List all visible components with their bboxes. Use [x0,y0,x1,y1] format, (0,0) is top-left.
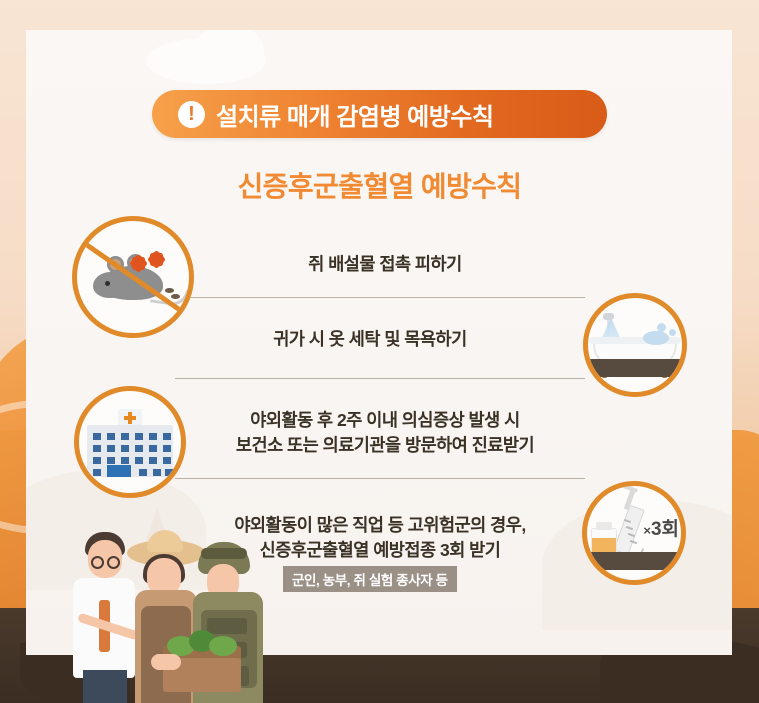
prevention-row-1: 쥐 배설물 접촉 피하기 [195,240,575,290]
bathtub-illustration [589,313,681,377]
hospital-window [139,469,147,476]
mouse-eye [105,281,110,286]
hospital-window [149,433,157,440]
vegetable-leaf-3 [209,636,237,656]
row-divider-2 [175,378,585,379]
hospital-window [135,457,143,464]
syringe-icon: ×3회 [582,481,686,585]
bubble-1 [643,331,669,345]
banner-title: 설치류 매개 감염병 예방수칙 [216,97,493,132]
prevention-row-1-text: 쥐 배설물 접촉 피하기 [195,252,575,277]
hospital-illustration [87,407,173,477]
prevention-row-3: 야외활동 후 2주 이내 의심증상 발생 시 보건소 또는 의료기관을 방문하여… [185,398,585,468]
prevention-row-3-text: 야외활동 후 2주 이내 의심증상 발생 시 보건소 또는 의료기관을 방문하여… [185,408,585,459]
hospital-window [165,469,173,476]
dose-count-label: ×3회 [643,514,679,541]
virus-particle-1 [131,256,146,271]
hospital-window [149,445,157,452]
hospital-window [93,457,101,464]
hospital-window [107,433,115,440]
syringe-illustration: ×3회 [587,496,681,570]
virus-particle-2 [149,252,164,267]
glasses-icon-left [91,556,104,569]
prevention-row-2-text: 귀가 시 옷 세탁 및 목욕하기 [175,327,565,352]
hospital-window [149,457,157,464]
infographic-canvas: ! 설치류 매개 감염병 예방수칙 신증후군출혈열 예방수칙 쥐 배설물 접촉 … [0,0,759,703]
hospital-window [93,445,101,452]
prevention-row-2: 귀가 시 옷 세탁 및 목욕하기 [175,315,565,365]
hospital-icon [74,386,186,498]
hospital-window [107,457,115,464]
hospital-window [93,433,101,440]
hospital-window [135,445,143,452]
hospital-window [93,469,101,476]
hospital-window [163,457,171,464]
hospital-window [121,457,129,464]
header-banner: ! 설치류 매개 감염병 예방수칙 [152,90,607,138]
page-subtitle: 신증후군출혈열 예방수칙 [0,165,759,205]
row-divider-1 [175,297,585,298]
shower-head-icon [603,313,614,320]
icon-ground-strip [589,359,681,377]
bathtub-icon [583,293,687,397]
hospital-window [163,433,171,440]
syringe-barrel [613,505,644,556]
farmer-arm [151,654,181,670]
hospital-window [121,433,129,440]
high-risk-people-illustration [55,518,270,703]
bubble-3 [669,329,676,336]
exclamation-glyph: ! [188,104,195,124]
bubble-2 [657,323,666,332]
hospital-window [135,433,143,440]
soldier-goggles-icon [201,548,247,559]
hospital-window [107,445,115,452]
rodent-dropping-1 [165,288,174,293]
high-risk-groups-badge: 군인, 농부, 쥐 실험 종사자 등 [283,566,457,592]
exclamation-icon: ! [178,101,205,128]
medical-cross-bar [124,416,136,420]
icon-ground-strip [587,552,681,570]
researcher-pants [83,670,127,703]
hospital-entrance [107,465,131,477]
hospital-window [153,469,161,476]
soldier-pouch-1 [207,618,247,634]
glasses-icon-right [107,556,120,569]
prevention-row-3-line-2: 보건소 또는 의료기관을 방문하여 진료받기 [185,433,585,458]
multiplier-symbol: × [643,523,651,538]
prevention-row-3-line-1: 야외활동 후 2주 이내 의심증상 발생 시 [185,408,585,433]
vaccine-vial-cap [596,522,612,530]
dose-count-value: 3회 [651,519,679,540]
hospital-window [163,445,171,452]
hospital-window [121,445,129,452]
row-divider-3 [175,478,585,479]
farmer-hat-crown [147,530,183,552]
rodent-dropping-2 [171,294,180,299]
